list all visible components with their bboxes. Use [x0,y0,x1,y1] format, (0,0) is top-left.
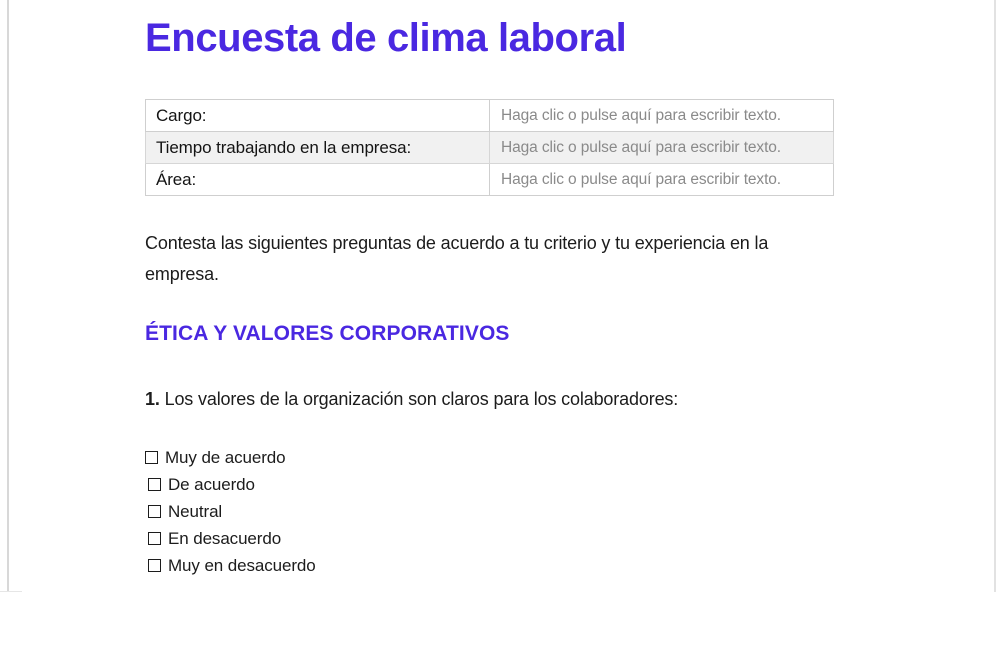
field-label-tiempo-trabajando: Tiempo trabajando en la empresa: [146,132,490,164]
table-row: Cargo: Haga clic o pulse aquí para escri… [146,100,834,132]
field-input-cargo[interactable]: Haga clic o pulse aquí para escribir tex… [490,100,834,132]
field-label-area: Área: [146,164,490,196]
option-label: Muy en desacuerdo [168,556,316,576]
question-text: Los valores de la organización son claro… [165,389,679,409]
field-input-tiempo-trabajando[interactable]: Haga clic o pulse aquí para escribir tex… [490,132,834,164]
page-edge-bottom-divider [0,591,22,592]
table-row: Área: Haga clic o pulse aquí para escrib… [146,164,834,196]
intro-paragraph: Contesta las siguientes preguntas de acu… [145,228,845,290]
page-edge-left-divider [7,0,9,592]
page-edge-right-divider [994,0,996,592]
option-label: Muy de acuerdo [165,448,286,468]
option-item[interactable]: En desacuerdo [145,525,316,552]
option-label: En desacuerdo [168,529,281,549]
respondent-info-table: Cargo: Haga clic o pulse aquí para escri… [145,99,834,196]
question-1: 1. Los valores de la organización son cl… [145,386,678,412]
option-item[interactable]: Muy en desacuerdo [145,552,316,579]
page-title: Encuesta de clima laboral [145,14,626,62]
option-label: Neutral [168,502,222,522]
field-input-area[interactable]: Haga clic o pulse aquí para escribir tex… [490,164,834,196]
section-heading-etica-valores: ÉTICA Y VALORES CORPORATIVOS [145,320,510,348]
field-label-cargo: Cargo: [146,100,490,132]
document-page: Encuesta de clima laboral Cargo: Haga cl… [0,0,1000,665]
table-row: Tiempo trabajando en la empresa: Haga cl… [146,132,834,164]
checkbox-empty-icon[interactable] [145,451,158,464]
option-label: De acuerdo [168,475,255,495]
checkbox-empty-icon[interactable] [148,532,161,545]
checkbox-empty-icon[interactable] [148,505,161,518]
question-1-options: Muy de acuerdo De acuerdo Neutral En des… [145,444,316,579]
option-item[interactable]: Muy de acuerdo [145,444,316,471]
question-number: 1. [145,389,160,409]
respondent-info-table-body: Cargo: Haga clic o pulse aquí para escri… [146,100,834,196]
checkbox-empty-icon[interactable] [148,559,161,572]
checkbox-empty-icon[interactable] [148,478,161,491]
option-item[interactable]: De acuerdo [145,471,316,498]
option-item[interactable]: Neutral [145,498,316,525]
